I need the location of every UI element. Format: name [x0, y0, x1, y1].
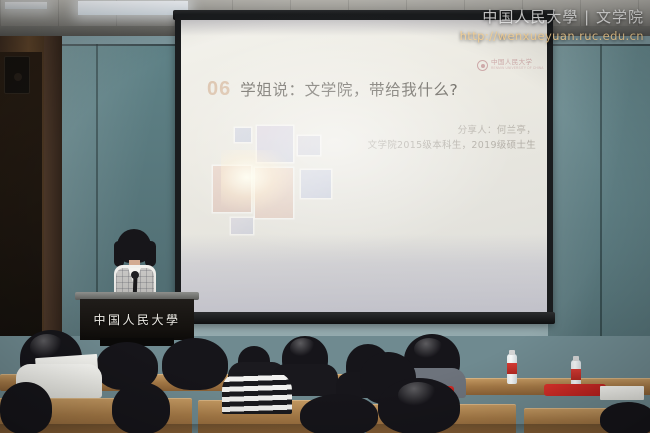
chalkboard-seam	[600, 44, 602, 336]
slide-photo-mosaic	[213, 126, 331, 244]
projection-screen: 中国人民大学 RENMIN UNIVERSITY OF CHINA 06 学姐说…	[181, 20, 547, 312]
slide-heading: 06 学姐说：文学院，带给我什么?	[207, 78, 458, 101]
ceiling-light-panel	[78, 1, 188, 15]
doorway-dark	[0, 52, 42, 336]
ruc-logo: 中国人民大学 RENMIN UNIVERSITY OF CHINA	[477, 60, 544, 71]
audience-head	[378, 378, 460, 433]
bottle-label	[507, 363, 517, 374]
paper-sheet	[600, 386, 644, 400]
audience-head	[162, 338, 228, 390]
audience-area	[0, 324, 650, 433]
speaker-hair	[117, 229, 151, 263]
mosaic-tile	[255, 168, 293, 218]
audience-striped-shirt	[222, 372, 292, 414]
slide-byline: 分享人：何兰亭， 文学院2015级本科生，2019级硕士生	[321, 124, 536, 153]
ruc-emblem-icon	[477, 60, 488, 71]
audience-head	[300, 394, 378, 433]
slide-title: 学姐说：文学院，带给我什么?	[240, 78, 458, 100]
screen-lower-shadow	[181, 234, 547, 312]
chalkboard-right	[548, 44, 650, 336]
bottle-cap	[509, 350, 515, 355]
slide-byline-line2: 文学院2015级本科生，2019级硕士生	[321, 139, 536, 154]
mosaic-tile	[298, 136, 320, 155]
red-bag	[544, 384, 606, 396]
ruc-logo-en: RENMIN UNIVERSITY OF CHINA	[491, 67, 544, 70]
audience-head	[112, 382, 170, 433]
wall-pillar	[44, 36, 62, 336]
bottle-label	[571, 369, 581, 380]
mosaic-tile	[231, 218, 253, 234]
mosaic-tile	[213, 166, 251, 212]
microphone-head-icon	[131, 271, 139, 279]
projection-screen-weight-bar	[173, 312, 555, 324]
mosaic-tile	[257, 126, 293, 162]
audience-head	[0, 382, 52, 433]
mosaic-tile	[301, 170, 331, 198]
wall-speaker-icon	[4, 56, 30, 94]
ceiling-light-panel-secondary	[5, 2, 47, 9]
audience-head	[600, 402, 650, 433]
slide-byline-line1: 分享人：何兰亭，	[321, 124, 536, 139]
lecture-hall-photo: 中国人民大学 RENMIN UNIVERSITY OF CHINA 06 学姐说…	[0, 0, 650, 433]
ruc-logo-text: 中国人民大学 RENMIN UNIVERSITY OF CHINA	[491, 60, 544, 70]
bottle-cap	[573, 356, 579, 361]
slide-number: 06	[207, 78, 231, 101]
screen-top-shadow	[181, 20, 547, 36]
water-bottle	[507, 354, 517, 384]
mosaic-tile	[235, 128, 251, 142]
